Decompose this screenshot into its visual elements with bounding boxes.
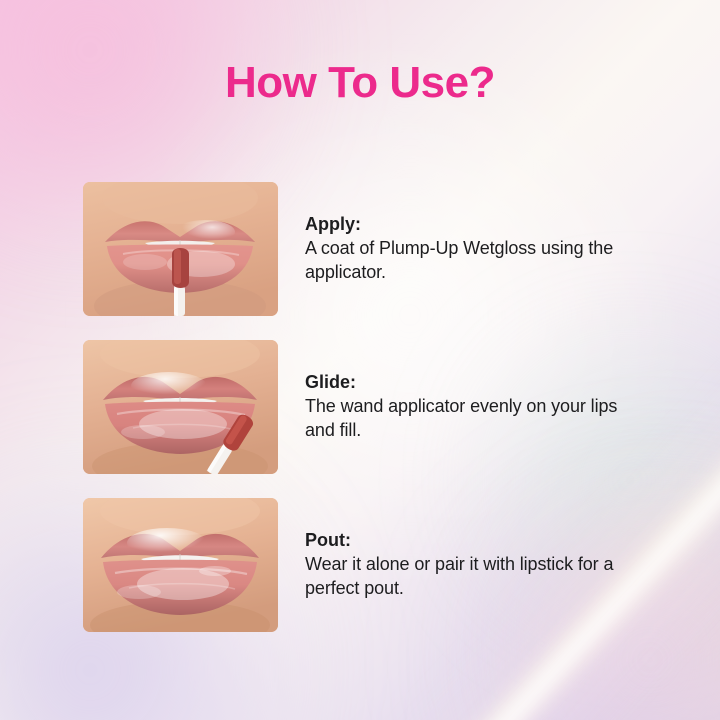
step-item: Pout: Wear it alone or pair it with lips… — [83, 498, 643, 632]
step-label: Apply: — [305, 213, 635, 236]
step-image-glide — [83, 340, 278, 474]
step-item: Apply: A coat of Plump-Up Wetgloss using… — [83, 182, 643, 316]
page-title: How To Use? — [0, 58, 720, 108]
step-copy: Pout: Wear it alone or pair it with lips… — [305, 529, 635, 601]
promo-canvas: How To Use? — [0, 0, 720, 720]
step-label: Glide: — [305, 371, 635, 394]
steps-list: Apply: A coat of Plump-Up Wetgloss using… — [83, 182, 643, 632]
step-label: Pout: — [305, 529, 635, 552]
step-description: A coat of Plump-Up Wetgloss using the ap… — [305, 237, 635, 285]
step-image-apply — [83, 182, 278, 316]
step-description: Wear it alone or pair it with lipstick f… — [305, 553, 635, 601]
step-description: The wand applicator evenly on your lips … — [305, 395, 635, 443]
step-copy: Glide: The wand applicator evenly on you… — [305, 371, 635, 443]
step-item: Glide: The wand applicator evenly on you… — [83, 340, 643, 474]
step-image-pout — [83, 498, 278, 632]
step-copy: Apply: A coat of Plump-Up Wetgloss using… — [305, 213, 635, 285]
